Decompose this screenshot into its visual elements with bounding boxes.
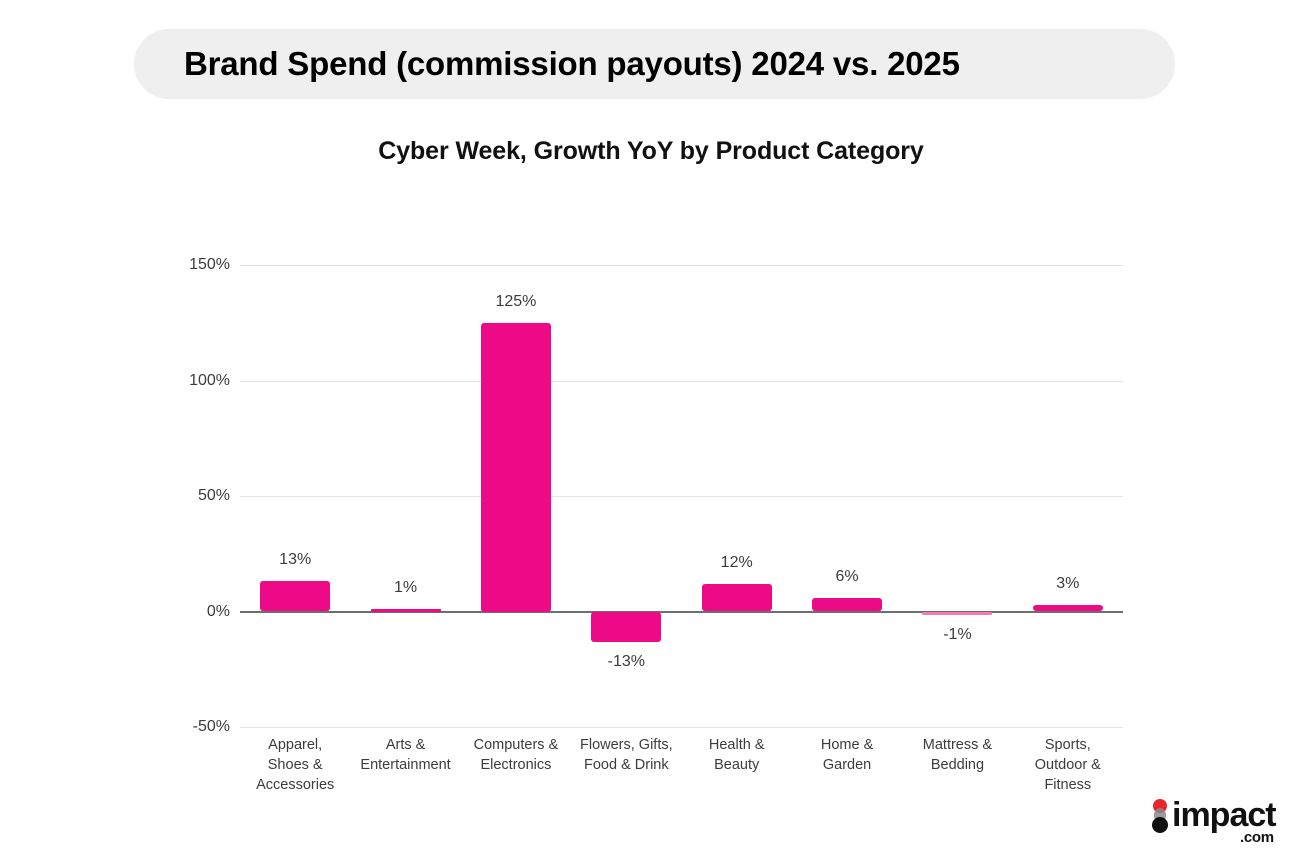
bar-value-label: 6%: [836, 568, 859, 586]
bar: [591, 612, 661, 642]
bar-value-label: 12%: [721, 554, 753, 572]
bar-value-label: -1%: [943, 626, 971, 644]
y-axis-tick-label: 0%: [170, 603, 230, 621]
bar: [702, 584, 772, 612]
bar-value-label: 125%: [495, 293, 536, 311]
y-axis-tick-label: 150%: [170, 256, 230, 274]
logo-black-dot-icon: [1152, 817, 1168, 833]
gridline: [240, 727, 1123, 728]
y-axis-tick-label: 50%: [170, 487, 230, 505]
bar-value-label: 3%: [1056, 575, 1079, 593]
bar-value-label: 1%: [394, 579, 417, 597]
bar: [481, 323, 551, 612]
y-axis-tick-label: -50%: [170, 718, 230, 736]
bar: [812, 598, 882, 612]
plot-area: [240, 265, 1123, 727]
impact-logo-mark-icon: [1152, 799, 1168, 841]
bar-chart: 150%100%50%0%-50%13%Apparel, Shoes & Acc…: [0, 0, 1308, 868]
bar-value-label: -13%: [608, 653, 645, 671]
bar: [260, 581, 330, 611]
gridline: [240, 265, 1123, 266]
bar: [1033, 605, 1103, 612]
x-axis-category-label: Sports, Outdoor & Fitness: [1000, 735, 1136, 795]
gridline: [240, 496, 1123, 497]
logo-tld: .com: [1240, 829, 1274, 846]
bar: [922, 612, 992, 615]
impact-logo: impact .com: [1152, 796, 1292, 852]
bar-value-label: 13%: [279, 551, 311, 569]
gridline: [240, 381, 1123, 382]
bar: [371, 609, 441, 612]
y-axis-tick-label: 100%: [170, 372, 230, 390]
